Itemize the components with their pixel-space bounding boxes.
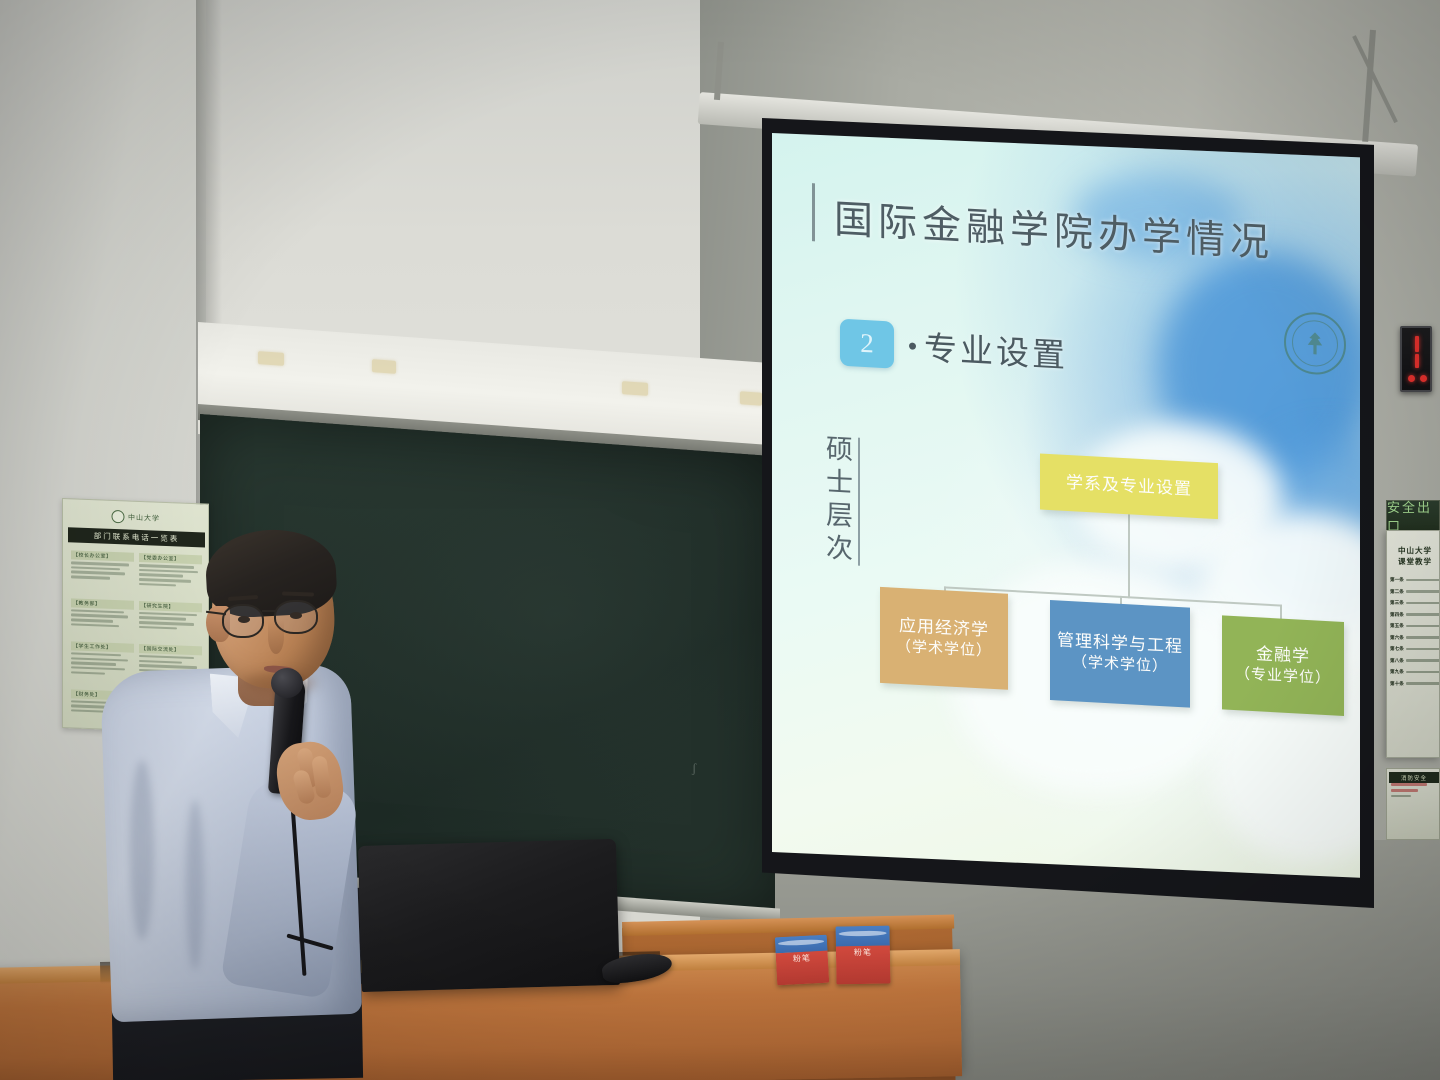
poster-left-logo: 中山大学 <box>111 510 160 525</box>
poster-right-row: 第一条 <box>1390 577 1440 583</box>
lecture-hall-scene: ʃ 国际金融学院办学情况 2 专业设置 硕士层次 <box>0 0 1440 1080</box>
section-bullet-dot <box>909 342 916 349</box>
poster-right-title: 中山大学 课堂教学 <box>1391 545 1439 568</box>
led-wall-clock <box>1400 326 1432 392</box>
tape-mark-3 <box>622 381 648 396</box>
presenter-laptop[interactable] <box>358 839 620 992</box>
poster-right-row: 第七条 <box>1390 646 1440 652</box>
org-node-c-line2: （专业学位） <box>1235 664 1331 689</box>
poster-right-row: 第九条 <box>1390 669 1440 675</box>
tape-mark-1 <box>258 351 284 366</box>
section-label: 专业设置 <box>924 321 1068 377</box>
poster-left-section-label: 【党委办公室】 <box>139 553 202 564</box>
poster-right-row-label: 第九条 <box>1390 669 1404 675</box>
poster-right-row-label: 第二条 <box>1390 589 1404 595</box>
poster-classroom-teaching-rules: 中山大学 课堂教学 第一条 第二条 第三条 第四条 第五条 第六条 第七条 第八… <box>1386 530 1440 758</box>
chalk-box-2-label: 粉笔 <box>836 946 890 958</box>
level-divider-rule <box>858 438 860 566</box>
exit-sign: 安全出口 <box>1386 500 1440 532</box>
poster-left-cell: 【校长办公室】 <box>69 547 136 596</box>
poster-right-row: 第二条 <box>1390 589 1440 595</box>
org-node-b-line2: （学术学位） <box>1072 653 1168 678</box>
presenter-nose <box>268 620 284 654</box>
sysu-seal-small-icon <box>111 510 124 523</box>
org-node-c-line1: 金融学 <box>1256 643 1310 669</box>
level-label: 硕士层次 <box>818 433 857 567</box>
poster-right-row: 第三条 <box>1390 600 1440 606</box>
poster-right-row-label: 第四条 <box>1390 612 1404 618</box>
poster-right-title-line1: 中山大学 <box>1391 545 1439 556</box>
projection-screen-surface: 国际金融学院办学情况 2 专业设置 硕士层次 学系及专业设置 应用经济学 （学术… <box>772 133 1360 893</box>
org-node-root-label: 学系及专业设置 <box>1066 472 1192 502</box>
poster-right-row: 第八条 <box>1390 658 1440 664</box>
poster-right-row: 第五条 <box>1390 623 1440 629</box>
tape-mark-4 <box>740 391 762 406</box>
poster-fire-safety: 消防安全 <box>1386 768 1440 840</box>
poster-right-row-label: 第七条 <box>1390 646 1404 652</box>
poster-left-cell: 【研究生院】 <box>137 598 204 643</box>
clock-digit-segment-4 <box>1420 375 1427 382</box>
poster-right-row-label: 第八条 <box>1390 658 1404 664</box>
poster-left-section-label: 【校长办公室】 <box>71 550 134 561</box>
poster-left-section-label: 【研究生院】 <box>139 601 202 612</box>
poster-right-row: 第四条 <box>1390 612 1440 618</box>
eyeglasses-bridge <box>262 610 276 612</box>
eye-right <box>290 612 302 619</box>
org-node-applied-economics: 应用经济学 （学术学位） <box>880 587 1008 690</box>
org-node-a-line2: （学术学位） <box>896 637 992 662</box>
poster-left-cell: 【教务部】 <box>69 595 136 640</box>
poster-left-org-name: 中山大学 <box>128 512 160 523</box>
blackboard-chalk-mark: ʃ <box>692 760 696 776</box>
shirt-fold-2 <box>186 800 204 970</box>
poster-right-title-line2: 课堂教学 <box>1391 556 1439 567</box>
slide-title: 国际金融学院办学情况 <box>834 188 1274 268</box>
tape-mark-2 <box>372 359 396 374</box>
poster-right-row-label: 第一条 <box>1390 577 1404 583</box>
clock-digit-segment-1 <box>1415 336 1419 352</box>
sysu-seal-tree-icon <box>1305 332 1325 355</box>
clock-digit-segment-2 <box>1415 354 1419 368</box>
microphone-head-icon <box>271 668 303 698</box>
poster-right-row-label: 第六条 <box>1390 635 1404 641</box>
section-number-badge: 2 <box>840 319 894 369</box>
connector-trunk <box>1128 514 1130 598</box>
sysu-seal-logo <box>1284 311 1346 376</box>
chalk-box-1[interactable]: 粉笔 <box>775 935 829 986</box>
poster-left-cell: 【党委办公室】 <box>137 550 204 599</box>
org-node-management-science: 管理科学与工程 （学术学位） <box>1050 600 1190 708</box>
poster-left-section-label: 【教务部】 <box>71 598 134 609</box>
sysu-seal-inner-ring <box>1292 319 1338 367</box>
poster-left-section-label: 【学生工作处】 <box>71 641 134 652</box>
shirt-fold-1 <box>130 760 154 940</box>
clock-digit-segment-3 <box>1408 375 1415 382</box>
chalk-box-2[interactable]: 粉笔 <box>835 926 890 985</box>
poster-right-row: 第十条 <box>1390 681 1440 687</box>
poster-right-rows: 第一条 第二条 第三条 第四条 第五条 第六条 第七条 第八条 第九条 第十条 <box>1390 577 1440 692</box>
slide-title-accent-bar <box>812 183 815 241</box>
eye-left <box>238 616 250 623</box>
poster-right-row-label: 第十条 <box>1390 681 1404 687</box>
slide-content: 国际金融学院办学情况 2 专业设置 硕士层次 学系及专业设置 应用经济学 （学术… <box>772 133 1360 893</box>
poster-left-section-label: 【国际交流处】 <box>139 644 202 655</box>
poster-right-row: 第六条 <box>1390 635 1440 641</box>
poster-left-title: 部门联系电话一览表 <box>68 527 205 547</box>
poster-right-row-label: 第三条 <box>1390 600 1404 606</box>
org-node-root: 学系及专业设置 <box>1040 454 1218 520</box>
org-node-finance: 金融学 （专业学位） <box>1222 615 1344 716</box>
poster-fire-safety-header: 消防安全 <box>1389 772 1439 783</box>
poster-right-row-label: 第五条 <box>1390 623 1404 629</box>
